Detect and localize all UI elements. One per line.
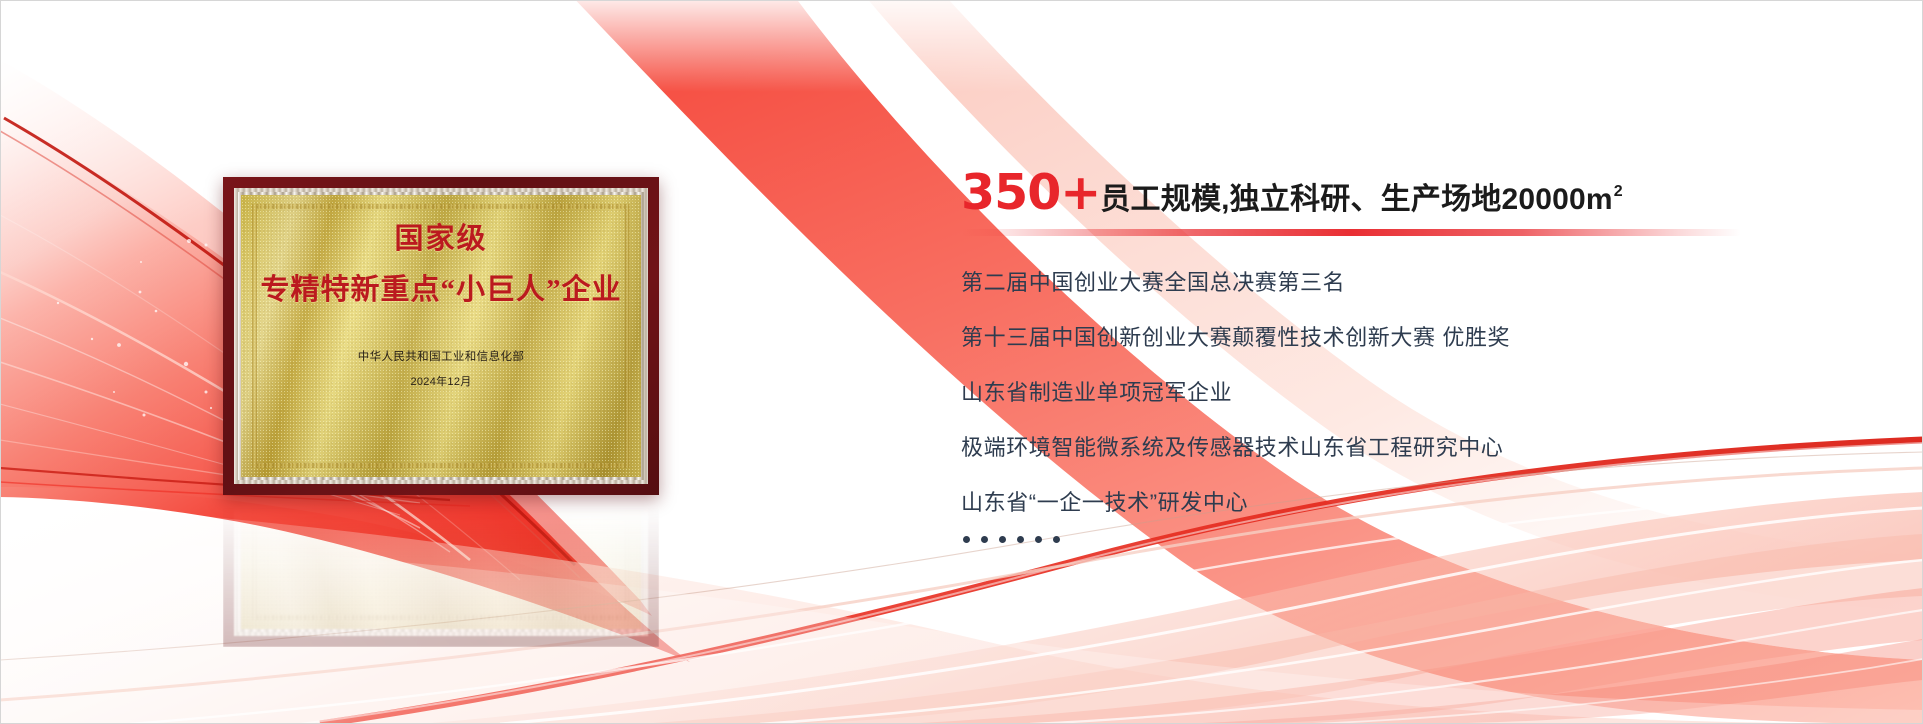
plaque-title-line1: 国家级 [394,223,487,255]
headline: 350+ 员工规模,独立科研、生产场地20000m 2 [961,168,1801,217]
list-item: 第二届中国创业大赛全国总决赛第三名 [961,270,1801,296]
ellipsis-more-indicator [961,536,1801,543]
list-item: 第十三届中国创新创业大赛颠覆性技术创新大赛 优胜奖 [961,325,1801,351]
plaque-text-block: 国家级 专精特新重点“小巨人”企业 中华人民共和国工业和信息化部 2024年12… [236,190,646,482]
plaque-title-line2: 专精特新重点“小巨人”企业 [260,266,621,308]
headline-number: 350+ [961,168,1100,217]
ellipsis-dot [1053,536,1060,543]
plaque-date: 2024年12月 [410,373,471,389]
honors-list: 第二届中国创业大赛全国总决赛第三名 第十三届中国创新创业大赛颠覆性技术创新大赛 … [961,270,1801,543]
ellipsis-dot [999,536,1006,543]
list-item: 山东省制造业单项冠军企业 [961,380,1801,406]
headline-superscript: 2 [1614,184,1623,200]
content-column: 350+ 员工规模,独立科研、生产场地20000m 2 第二届中国创业大赛全国总… [961,168,1801,543]
list-item: 极端环境智能微系统及传感器技术山东省工程研究中心 [961,435,1801,461]
banner-stage: 国家级 专精特新重点“小巨人”企业 中华人民共和国工业和信息化部 2024年12… [0,0,1923,724]
ellipsis-dot [1017,536,1024,543]
headline-text: 员工规模,独立科研、生产场地20000m [1100,185,1612,215]
award-plaque: 国家级 专精特新重点“小巨人”企业 中华人民共和国工业和信息化部 2024年12… [223,177,659,495]
ellipsis-dot [963,536,970,543]
headline-underline-rule [961,229,1741,236]
ellipsis-dot [1035,536,1042,543]
ellipsis-dot [981,536,988,543]
plaque-issuer: 中华人民共和国工业和信息化部 [358,348,525,364]
plaque-frame: 国家级 专精特新重点“小巨人”企业 中华人民共和国工业和信息化部 2024年12… [223,177,659,495]
list-item: 山东省“一企一技术”研发中心 [961,490,1801,516]
